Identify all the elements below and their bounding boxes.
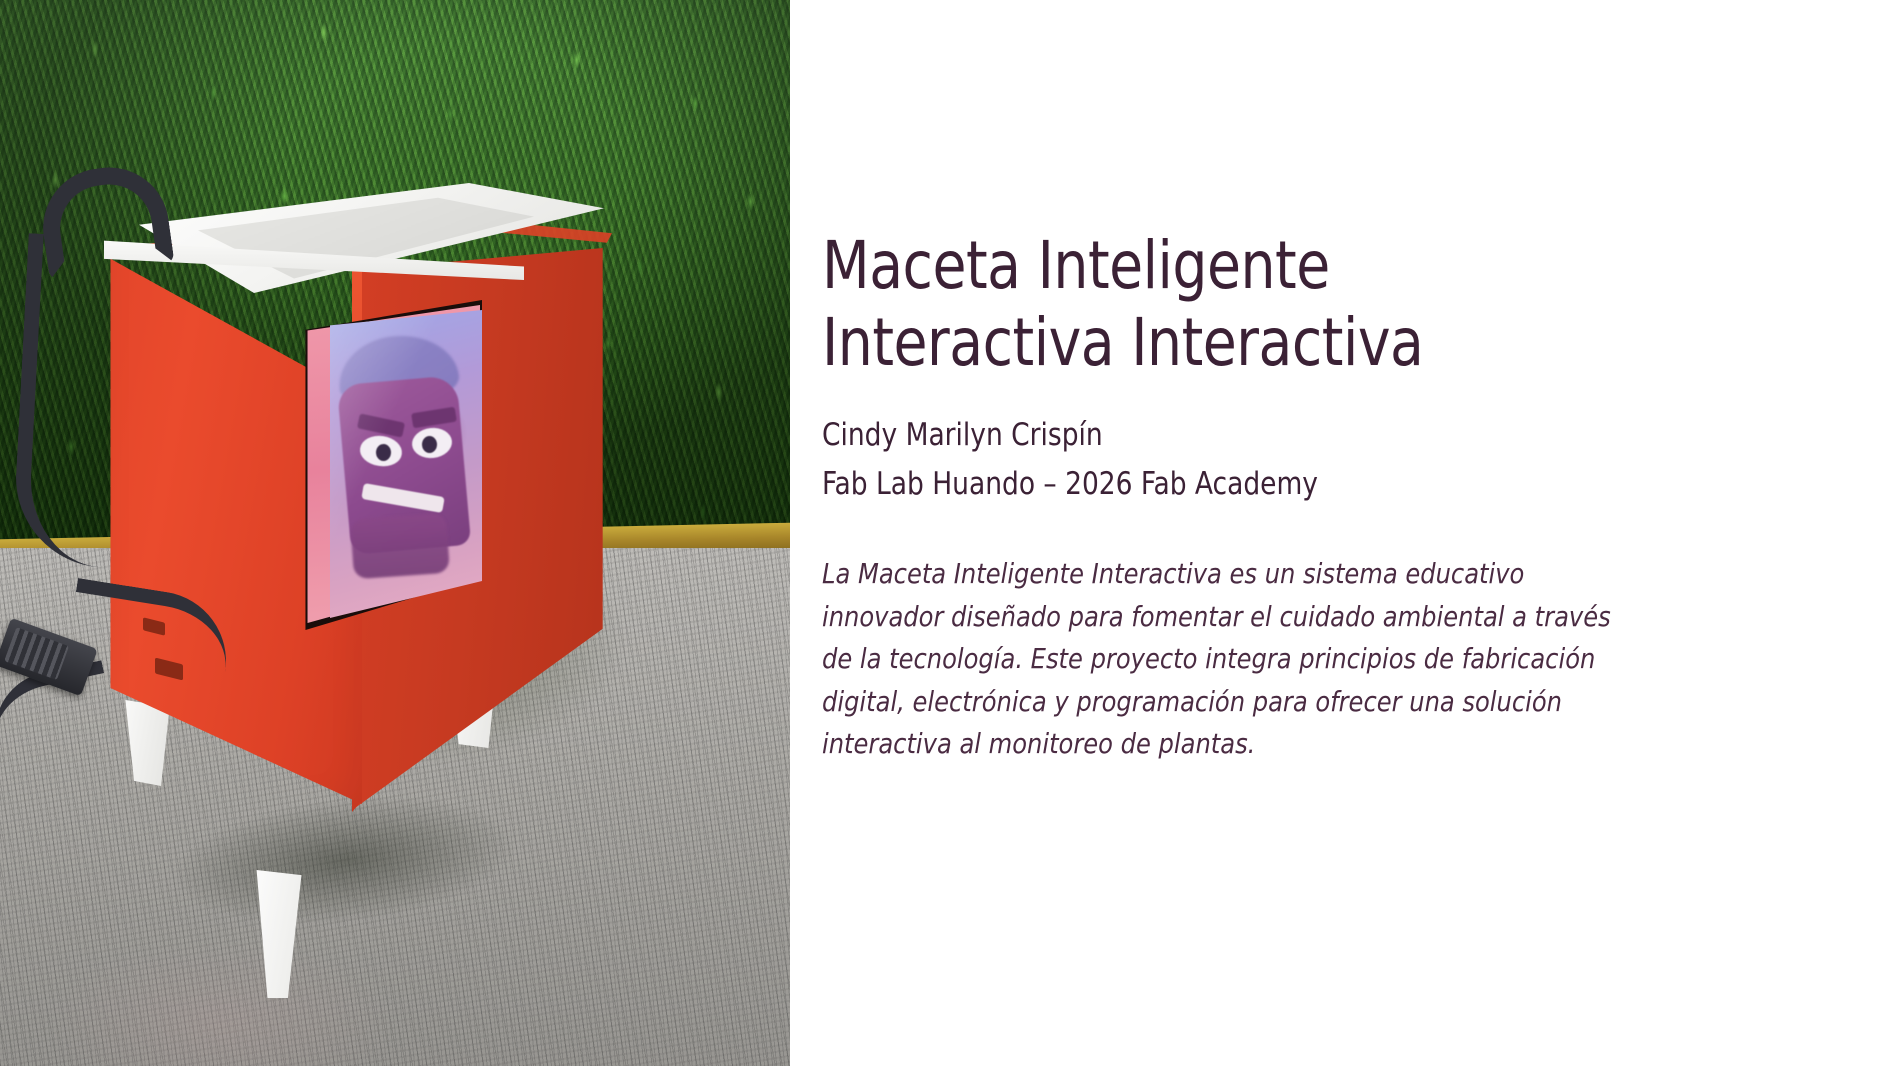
screen-glare [330,310,482,618]
author-name: Cindy Marilyn Crispín [822,411,1725,460]
smart-planter-photo [0,0,790,1066]
page-title: Maceta Inteligente Interactiva Interacti… [822,228,1529,381]
abstract-paragraph: La Maceta Inteligente Interactiva es un … [822,553,1628,766]
lcd-screen-display [330,310,482,618]
slide-text-panel: Maceta Inteligente Interactiva Interacti… [790,0,1882,1066]
planter-object [0,0,790,1066]
affiliation-line: Fab Lab Huando – 2026 Fab Academy [822,460,1725,509]
power-cable-run [11,233,146,569]
title-slide: Maceta Inteligente Interactiva Interacti… [0,0,1882,1066]
